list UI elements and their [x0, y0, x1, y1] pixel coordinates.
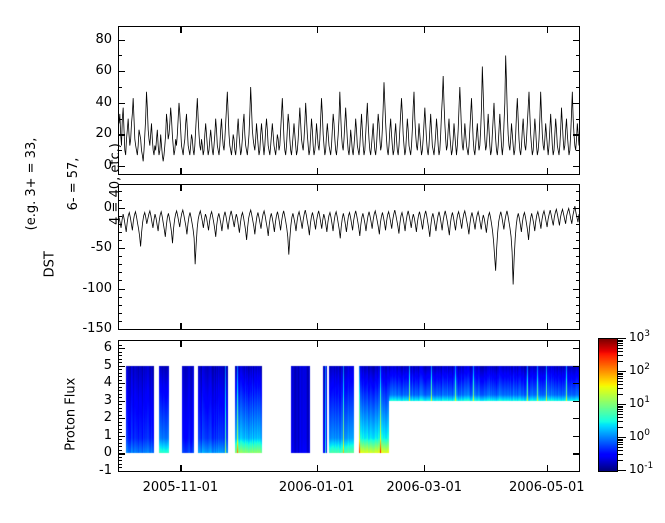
- x-tick-major-top: [547, 26, 548, 33]
- colorbar-tick-minor: [618, 345, 623, 346]
- kp-plot-area: [119, 27, 579, 174]
- kp-ytick-major-right: [573, 166, 580, 167]
- colorbar-tick-minor: [618, 417, 623, 418]
- dst-ytick-minor: [118, 240, 122, 241]
- proton-flux-ytick-label: 3: [84, 393, 112, 408]
- proton-flux-ytick-minor: [118, 446, 122, 447]
- x-tick-major: [317, 323, 318, 330]
- dst-ytick-minor: [118, 321, 122, 322]
- x-tick-major: [317, 168, 318, 175]
- colorbar-tick-minor: [618, 374, 623, 375]
- proton-flux-ytick-minor: [118, 429, 122, 430]
- dst-ytick-minor: [118, 297, 122, 298]
- colorbar-tick-label: 10-1: [629, 461, 653, 476]
- proton-flux-ytick-minor: [118, 345, 122, 346]
- colorbar-tick-mantissa: 10: [629, 330, 644, 344]
- proton-flux-ytick-minor: [118, 390, 122, 391]
- colorbar-tick-minor: [618, 384, 623, 385]
- colorbar-tick-exponent: 1: [644, 395, 650, 405]
- proton-flux-ytick-minor: [118, 460, 122, 461]
- colorbar-tick-minor: [618, 409, 623, 410]
- colorbar-tick-label: 100: [629, 428, 650, 443]
- colorbar-tick-minor: [618, 460, 623, 461]
- dst-ytick-minor-right: [576, 305, 580, 306]
- proton-flux-ytick-minor: [118, 373, 122, 374]
- dst-ytick-minor: [118, 191, 122, 192]
- kp-ytick-label: 40: [70, 95, 112, 110]
- x-tick-major-top: [424, 26, 425, 33]
- colorbar-tick-exponent: 2: [644, 362, 650, 372]
- dst-ytick-minor: [118, 272, 122, 273]
- kp-ytick-minor: [118, 55, 122, 56]
- proton-flux-ytick-minor: [118, 355, 122, 356]
- colorbar-tick-minor: [618, 348, 623, 349]
- dst-ytick-minor: [118, 216, 122, 217]
- proton-flux-ytick-minor: [118, 376, 122, 377]
- proton-flux-ytick-label: 0: [84, 445, 112, 460]
- kp-ytick-minor-right: [576, 150, 580, 151]
- proton-flux-ytick-label: 4: [84, 375, 112, 390]
- dst-ytick-minor-right: [576, 280, 580, 281]
- dst-ytick-minor-right: [576, 264, 580, 265]
- proton-flux-ytick-minor: [118, 411, 122, 412]
- dst-ytick-major-right: [573, 329, 580, 330]
- proton-flux-ytick-major: [118, 453, 125, 454]
- colorbar-tick-minor: [618, 450, 623, 451]
- x-tick-major-top: [547, 340, 548, 347]
- colorbar-tick-minor: [618, 454, 623, 455]
- proton-flux-heatmap: [119, 341, 579, 471]
- colorbar-tick-minor: [618, 378, 623, 379]
- proton-flux-ytick-minor: [118, 404, 122, 405]
- colorbar-tick-minor: [618, 373, 623, 374]
- proton-flux-ytick-minor: [118, 422, 122, 423]
- x-tick-major-top: [424, 184, 425, 191]
- dst-ytick-label: -100: [66, 281, 112, 296]
- proton-flux-ytick-minor: [118, 362, 122, 363]
- proton-flux-ytick-major-right: [573, 471, 580, 472]
- dst-ytick-minor-right: [576, 224, 580, 225]
- figure-canvas: Kp (e.g. 3+ = 33, 6- = 57, 4 = 40, etc.)…: [0, 0, 665, 523]
- dst-series-line: [119, 206, 579, 284]
- kp-ytick-major-right: [573, 71, 580, 72]
- x-tick-major: [547, 323, 548, 330]
- kp-ytick-major: [118, 40, 125, 41]
- proton-flux-ytick-major: [118, 401, 125, 402]
- colorbar-tick-exponent: 0: [644, 428, 650, 438]
- colorbar-tick-minor: [618, 343, 623, 344]
- proton-flux-ytick-major: [118, 348, 125, 349]
- kp-ytick-major-right: [573, 103, 580, 104]
- dst-ytick-minor: [118, 200, 122, 201]
- colorbar-tick-minor: [618, 340, 623, 341]
- colorbar-tick-minor: [618, 427, 623, 428]
- proton-flux-ytick-major: [118, 471, 125, 472]
- dst-ytick-minor: [118, 280, 122, 281]
- dst-ytick-minor: [118, 256, 122, 257]
- dst-ytick-label: 0: [66, 200, 112, 215]
- colorbar-tick-major: [618, 470, 626, 471]
- colorbar-tick-mantissa: 10: [629, 396, 644, 410]
- kp-ytick-major: [118, 103, 125, 104]
- proton-flux-ytick-major-right: [573, 418, 580, 419]
- dst-ytick-minor-right: [576, 321, 580, 322]
- dst-ytick-minor: [118, 264, 122, 265]
- colorbar-tick-minor: [618, 355, 623, 356]
- proton-flux-ytick-minor: [118, 352, 122, 353]
- proton-flux-ytick-minor: [118, 457, 122, 458]
- kp-ytick-major: [118, 166, 125, 167]
- x-tick-major-top: [424, 340, 425, 347]
- dst-ytick-label: -150: [66, 321, 112, 336]
- proton-flux-ytick-minor: [118, 408, 122, 409]
- x-tick-major: [180, 323, 181, 330]
- x-tick-major: [547, 168, 548, 175]
- colorbar-tick-minor: [618, 439, 623, 440]
- colorbar-tick-minor: [618, 388, 623, 389]
- dst-ytick-major: [118, 208, 125, 209]
- colorbar-tick-exponent: -1: [644, 461, 653, 471]
- colorbar-tick-minor: [618, 440, 623, 441]
- proton-flux-ytick-label: 2: [84, 410, 112, 425]
- dst-plot-area: [119, 185, 579, 329]
- x-tick-major: [317, 465, 318, 472]
- dst-ytick-minor-right: [576, 240, 580, 241]
- x-tick-major: [180, 465, 181, 472]
- x-tick-major: [424, 323, 425, 330]
- x-tick-major-top: [180, 340, 181, 347]
- colorbar-tick-minor: [618, 341, 623, 342]
- kp-ytick-minor-right: [576, 119, 580, 120]
- x-axis-tick-label: 2006-01-01: [262, 480, 372, 495]
- kp-ytick-major: [118, 71, 125, 72]
- x-tick-major-top: [180, 26, 181, 33]
- dst-ytick-minor: [118, 305, 122, 306]
- x-axis-tick-label: 2006-03-01: [369, 480, 479, 495]
- dst-ytick-minor-right: [576, 191, 580, 192]
- dst-ytick-major: [118, 248, 125, 249]
- dst-ytick-minor-right: [576, 232, 580, 233]
- colorbar-tick-label: 102: [629, 362, 650, 377]
- dst-axis-label-text: DST: [43, 251, 58, 277]
- proton-flux-ytick-minor: [118, 397, 122, 398]
- colorbar-tick-mantissa: 10: [629, 462, 644, 476]
- colorbar-tick-exponent: 3: [644, 329, 650, 339]
- proton-flux-ytick-minor: [118, 432, 122, 433]
- colorbar-tick-minor: [618, 421, 623, 422]
- colorbar-tick-label: 101: [629, 395, 650, 410]
- kp-series-line: [119, 55, 579, 161]
- proton-flux-ytick-minor: [118, 359, 122, 360]
- kp-ytick-major-right: [573, 134, 580, 135]
- proton-flux-ytick-minor: [118, 369, 122, 370]
- proton-flux-panel: [118, 340, 580, 472]
- dst-ytick-label: -50: [66, 240, 112, 255]
- proton-flux-ytick-minor: [118, 387, 122, 388]
- dst-ytick-minor-right: [576, 256, 580, 257]
- proton-flux-ytick-major-right: [573, 436, 580, 437]
- colorbar-tick-minor: [618, 407, 623, 408]
- x-tick-major: [424, 465, 425, 472]
- proton-flux-ytick-major: [118, 436, 125, 437]
- proton-flux-ytick-major: [118, 383, 125, 384]
- proton-flux-ytick-label: -1: [84, 463, 112, 478]
- dst-ytick-major: [118, 329, 125, 330]
- colorbar-tick-minor: [618, 376, 623, 377]
- kp-ytick-major: [118, 134, 125, 135]
- proton-flux-ytick-major-right: [573, 348, 580, 349]
- dst-ytick-minor-right: [576, 272, 580, 273]
- dst-ytick-minor-right: [576, 200, 580, 201]
- dst-ytick-minor: [118, 224, 122, 225]
- kp-ytick-label: 20: [70, 126, 112, 141]
- dst-ytick-minor: [118, 313, 122, 314]
- dst-ytick-major-right: [573, 289, 580, 290]
- proton-flux-ytick-major-right: [573, 366, 580, 367]
- colorbar-tick-minor: [618, 442, 623, 443]
- colorbar-tick-minor: [618, 351, 623, 352]
- x-tick-major-top: [317, 26, 318, 33]
- kp-ytick-label: 80: [70, 32, 112, 47]
- colorbar-tick-minor: [618, 361, 623, 362]
- colorbar-tick-label: 103: [629, 329, 650, 344]
- proton-flux-ytick-minor: [118, 394, 122, 395]
- proton-flux-ytick-minor: [118, 467, 122, 468]
- x-tick-major-top: [180, 184, 181, 191]
- kp-ytick-major-right: [573, 40, 580, 41]
- x-tick-major-top: [547, 184, 548, 191]
- proton-flux-ytick-minor: [118, 425, 122, 426]
- kp-ytick-minor: [118, 150, 122, 151]
- x-tick-major: [424, 168, 425, 175]
- kp-ytick-minor-right: [576, 87, 580, 88]
- dst-ytick-minor-right: [576, 216, 580, 217]
- dst-ytick-major: [118, 289, 125, 290]
- x-tick-major: [180, 168, 181, 175]
- colorbar-tick-mantissa: 10: [629, 363, 644, 377]
- dst-ytick-minor: [118, 232, 122, 233]
- kp-ytick-label: 0: [70, 158, 112, 173]
- proton-flux-axis-label-text: Proton Flux: [64, 378, 79, 451]
- colorbar-tick-minor: [618, 381, 623, 382]
- proton-flux-ytick-label: 1: [84, 428, 112, 443]
- colorbar-tick-minor: [618, 406, 623, 407]
- x-axis-tick-label: 2006-05-01: [492, 480, 602, 495]
- proton-flux-ytick-major-right: [573, 401, 580, 402]
- dst-ytick-minor-right: [576, 297, 580, 298]
- proton-flux-ytick-label: 5: [84, 358, 112, 373]
- proton-flux-ytick-major: [118, 418, 125, 419]
- colorbar-gradient: [598, 338, 618, 472]
- kp-ytick-minor: [118, 119, 122, 120]
- colorbar-tick-minor: [618, 394, 623, 395]
- colorbar-tick-minor: [618, 411, 623, 412]
- dst-ytick-minor-right: [576, 313, 580, 314]
- proton-flux-ytick-minor: [118, 450, 122, 451]
- proton-flux-ytick-minor: [118, 464, 122, 465]
- proton-flux-ytick-minor: [118, 415, 122, 416]
- x-tick-major: [547, 465, 548, 472]
- proton-flux-ytick-major-right: [573, 453, 580, 454]
- colorbar-tick-minor: [618, 414, 623, 415]
- x-tick-major-top: [317, 184, 318, 191]
- kp-ytick-label: 60: [70, 63, 112, 78]
- dst-ytick-major-right: [573, 208, 580, 209]
- proton-flux-ytick-minor: [118, 380, 122, 381]
- proton-flux-ytick-minor: [118, 443, 122, 444]
- x-tick-major-top: [317, 340, 318, 347]
- proton-flux-ytick-major: [118, 366, 125, 367]
- proton-flux-ytick-label: 6: [84, 340, 112, 355]
- colorbar-tick-minor: [618, 447, 623, 448]
- proton-flux-ytick-minor: [118, 439, 122, 440]
- colorbar-tick-minor: [618, 444, 623, 445]
- kp-axis-label-line-1: (e.g. 3+ = 33,: [25, 109, 39, 259]
- colorbar-tick-mantissa: 10: [629, 429, 644, 443]
- x-axis-tick-label: 2005-11-01: [125, 480, 235, 495]
- proton-flux-ytick-major-right: [573, 383, 580, 384]
- kp-ytick-minor: [118, 87, 122, 88]
- kp-ytick-minor-right: [576, 55, 580, 56]
- dst-ytick-major-right: [573, 248, 580, 249]
